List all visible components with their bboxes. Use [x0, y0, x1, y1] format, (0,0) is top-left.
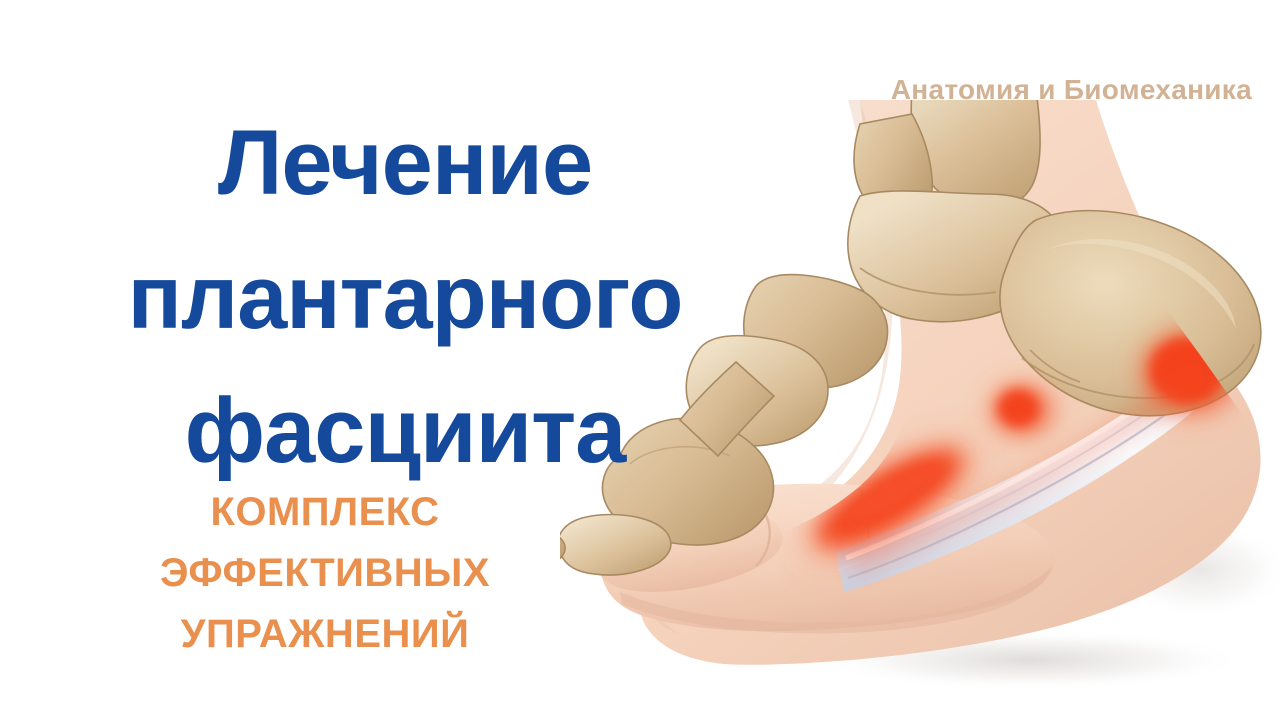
subtitle-line-2: ЭФФЕКТИВНЫХ — [80, 543, 570, 604]
channel-brand-label: Анатомия и Биомеханика — [891, 74, 1252, 106]
thumbnail-canvas: Лечение плантарного фасциита КОМПЛЕКС ЭФ… — [0, 0, 1280, 720]
subtitle-line-1: КОМПЛЕКС — [80, 482, 570, 543]
midfoot-inflammation — [982, 376, 1062, 444]
text-overlay: Лечение плантарного фасциита КОМПЛЕКС ЭФ… — [0, 0, 800, 720]
page-title: Лечение плантарного фасциита — [40, 96, 770, 499]
title-line-3: фасциита — [40, 364, 770, 499]
title-line-1: Лечение — [40, 96, 770, 231]
subtitle: КОМПЛЕКС ЭФФЕКТИВНЫХ УПРАЖНЕНИЙ — [80, 482, 570, 666]
subtitle-line-3: УПРАЖНЕНИЙ — [80, 604, 570, 665]
title-line-2: плантарного — [40, 232, 770, 364]
